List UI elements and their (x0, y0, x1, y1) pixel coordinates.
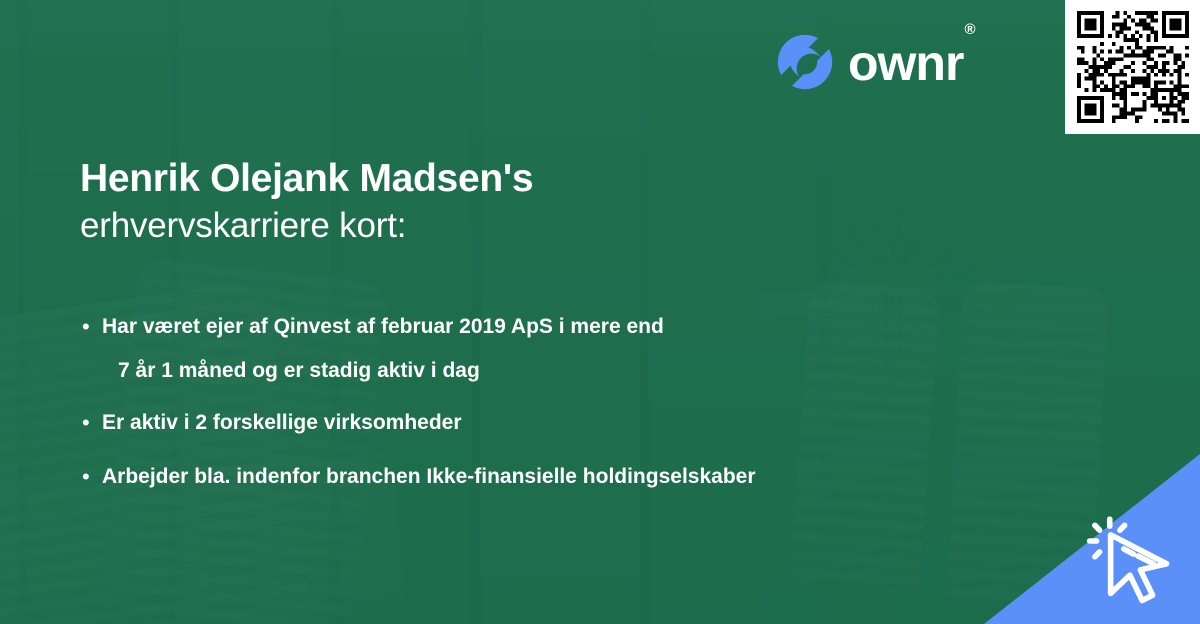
registered-trademark-symbol: ® (964, 21, 975, 38)
bullet-icon: • (82, 408, 102, 438)
headline-line-2: erhvervskarriere kort: (80, 205, 880, 247)
qr-code-panel[interactable] (1065, 0, 1200, 134)
fact-text-main: Har været ejer af Qinvest af februar 201… (102, 315, 664, 338)
list-item: • Har været ejer af Qinvest af februar 2… (82, 312, 982, 386)
ownr-logo[interactable]: ownr ® (776, 33, 975, 91)
fact-text: Arbejder bla. indenfor branchen Ikke-fin… (102, 462, 756, 492)
card-content: ownr ® Henrik Olejank Madsen's erhvervsk… (0, 0, 1200, 624)
bullet-icon: • (82, 312, 102, 342)
headline-line-1: Henrik Olejank Madsen's (80, 157, 880, 201)
bullet-icon: • (82, 462, 102, 492)
list-item: • Arbejder bla. indenfor branchen Ikke-f… (82, 462, 982, 492)
ownr-circle-swoosh-logo-icon (776, 33, 834, 91)
page-title: Henrik Olejank Madsen's erhvervskarriere… (80, 157, 880, 247)
qr-code-icon (1077, 11, 1189, 123)
click-cursor-icon (1080, 506, 1192, 618)
ownr-wordmark: ownr (848, 38, 963, 88)
list-item: • Er aktiv i 2 forskellige virksomheder (82, 408, 982, 438)
career-card: ownr ® Henrik Olejank Madsen's erhvervsk… (0, 0, 1200, 624)
fact-list: • Har været ejer af Qinvest af februar 2… (82, 312, 982, 514)
fact-text: Har været ejer af Qinvest af februar 201… (102, 312, 664, 386)
fact-text: Er aktiv i 2 forskellige virksomheder (102, 408, 462, 438)
fact-text-continuation: 7 år 1 måned og er stadig aktiv i dag (102, 356, 664, 386)
